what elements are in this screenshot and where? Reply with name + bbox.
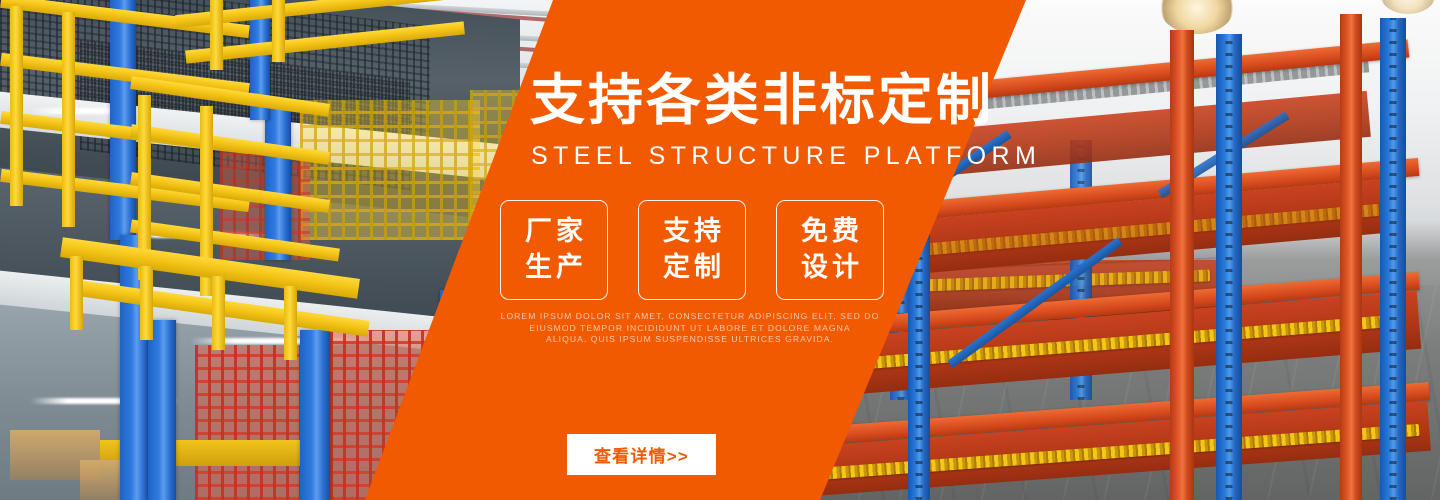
feature-badge-group: 厂家 生产 支持 定制 免费 设计 [500, 200, 884, 300]
badge-line-1: 支持 [659, 214, 725, 250]
description-line: ALIQUA. QUIS IPSUM SUSPENDISSE ULTRICES … [440, 334, 940, 346]
view-details-button[interactable]: 查看详情>> [567, 434, 716, 475]
banner-content: 支持各类非标定制 STEEL STRUCTURE PLATFORM 厂家 生产 … [0, 0, 1440, 500]
badge-line-2: 设计 [797, 250, 863, 286]
description-line: EIUSMOD TEMPOR INCIDIDUNT UT LABORE ET D… [440, 323, 940, 335]
feature-badge-customization: 支持 定制 [638, 200, 746, 300]
badge-line-2: 生产 [521, 250, 587, 286]
badge-line-2: 定制 [659, 250, 725, 286]
subtitle: STEEL STRUCTURE PLATFORM [531, 144, 1041, 169]
description-line: LOREM IPSUM DOLOR SIT AMET, CONSECTETUR … [440, 311, 940, 323]
view-details-label: 查看详情>> [594, 442, 689, 467]
feature-badge-free-design: 免费 设计 [776, 200, 884, 300]
badge-line-1: 厂家 [521, 214, 587, 250]
promo-banner: 支持各类非标定制 STEEL STRUCTURE PLATFORM 厂家 生产 … [0, 0, 1440, 500]
badge-line-1: 免费 [797, 214, 863, 250]
page-title: 支持各类非标定制 [530, 73, 990, 128]
description-text: LOREM IPSUM DOLOR SIT AMET, CONSECTETUR … [440, 311, 940, 346]
feature-badge-manufacturer: 厂家 生产 [500, 200, 608, 300]
